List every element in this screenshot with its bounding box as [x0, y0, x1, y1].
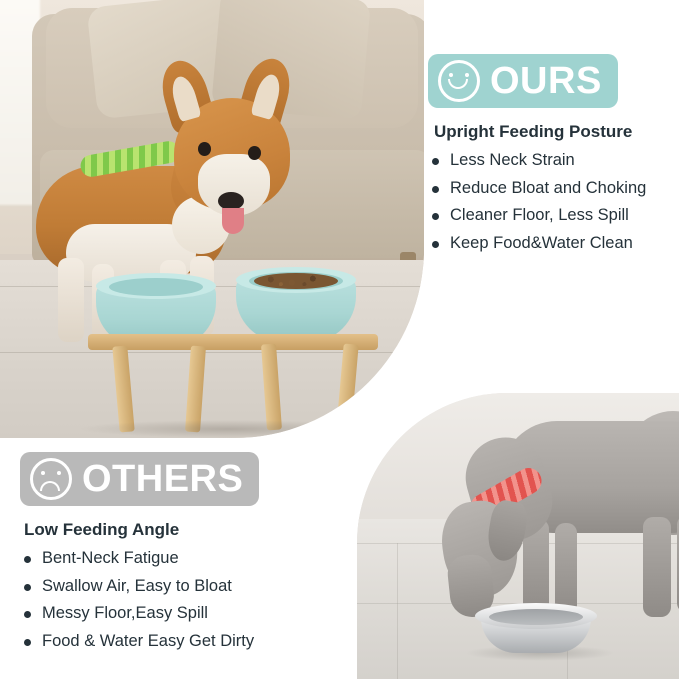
kibble	[254, 273, 338, 289]
stand-shadow	[78, 420, 378, 438]
wood-leg	[261, 344, 282, 431]
list-item: Bent-Neck Fatigue	[20, 550, 350, 567]
list-item: Reduce Bloat and Choking	[428, 180, 674, 197]
list-item: Messy Floor,Easy Spill	[20, 605, 350, 622]
dog-tongue	[222, 208, 244, 234]
dog-leg	[643, 517, 671, 617]
wood-rail	[88, 334, 378, 350]
others-badge-label: OTHERS	[82, 460, 243, 498]
list-item: Keep Food&Water Clean	[428, 235, 674, 252]
dog-leg	[58, 258, 84, 342]
others-badge: OTHERS	[20, 452, 259, 506]
grey-dog	[405, 393, 679, 669]
food-bowl	[236, 278, 356, 342]
ours-badge: OURS	[428, 54, 618, 108]
dog-eye	[248, 146, 261, 160]
others-product-photo	[357, 393, 679, 679]
others-subtitle: Low Feeding Angle	[24, 520, 350, 540]
dog-eye	[198, 142, 211, 156]
smiley-face-icon	[438, 60, 480, 102]
ours-feature-list: Less Neck Strain Reduce Bloat and Chokin…	[428, 152, 674, 251]
steel-bowl-interior	[489, 609, 583, 625]
comparison-infographic: OURS Upright Feeding Posture Less Neck S…	[0, 0, 679, 679]
ours-subtitle: Upright Feeding Posture	[434, 122, 674, 142]
ours-product-photo	[0, 0, 424, 438]
list-item: Cleaner Floor, Less Spill	[428, 207, 674, 224]
sad-face-icon	[30, 458, 72, 500]
list-item: Swallow Air, Easy to Bloat	[20, 578, 350, 595]
others-panel: OTHERS Low Feeding Angle Bent-Neck Fatig…	[20, 452, 350, 660]
list-item: Less Neck Strain	[428, 152, 674, 169]
raised-bowl-stand	[88, 272, 384, 432]
others-feature-list: Bent-Neck Fatigue Swallow Air, Easy to B…	[20, 550, 350, 649]
list-item: Food & Water Easy Get Dirty	[20, 633, 350, 650]
wood-leg	[336, 344, 358, 431]
ours-badge-label: OURS	[490, 62, 602, 100]
dog-leg	[555, 523, 577, 615]
ours-panel: OURS Upright Feeding Posture Less Neck S…	[428, 54, 674, 262]
